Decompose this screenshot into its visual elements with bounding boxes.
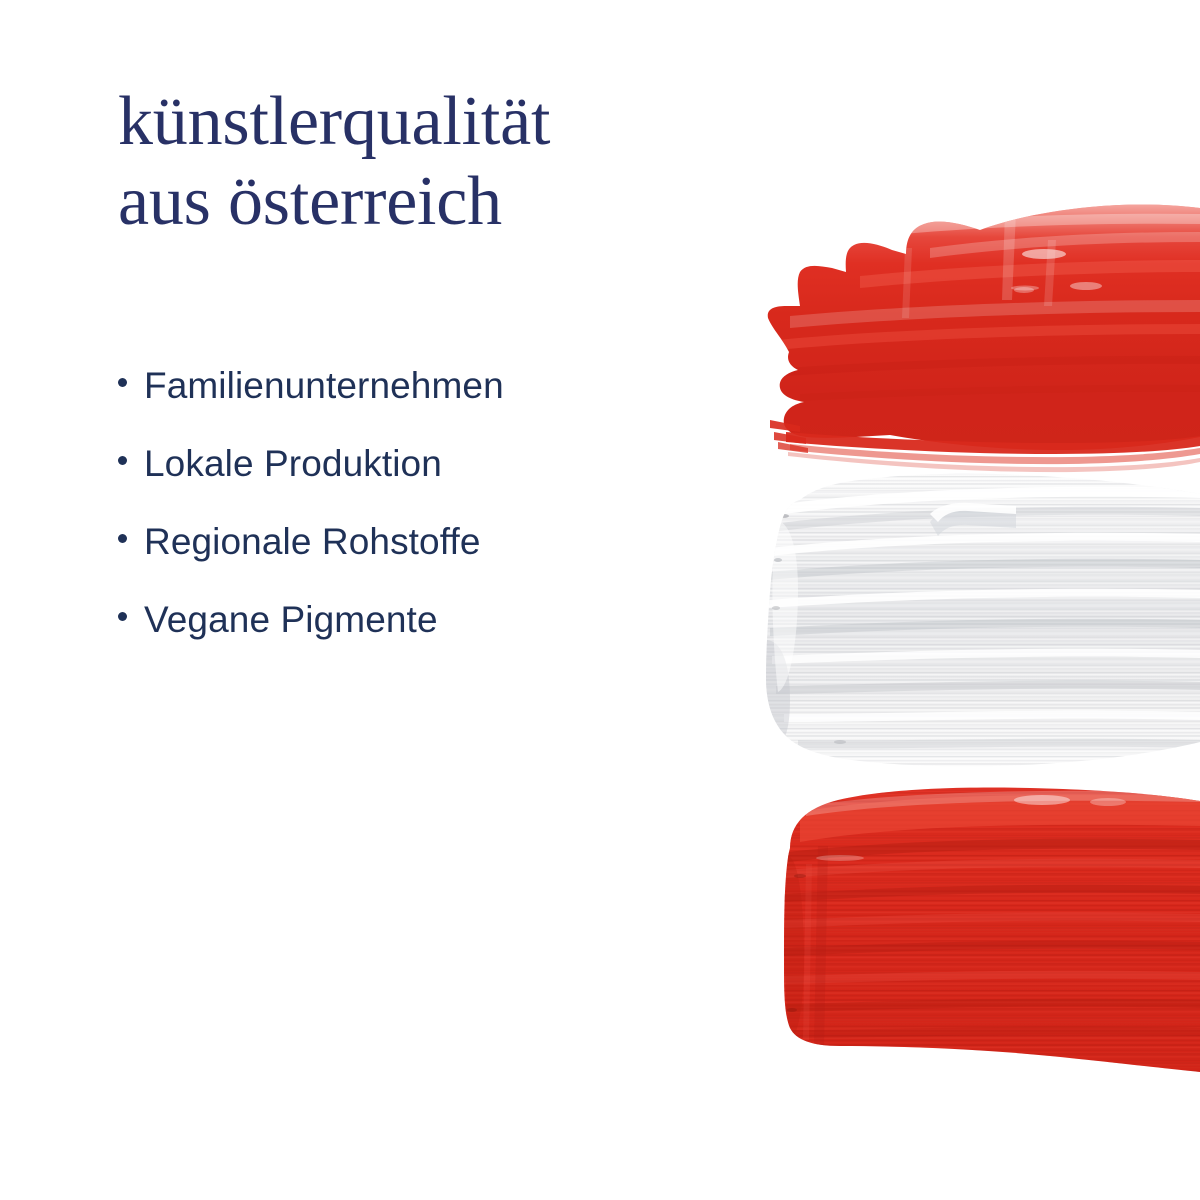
middle-white-stroke: [740, 460, 1200, 790]
list-item: Lokale Produktion: [118, 443, 758, 521]
bottom-red-stroke: [760, 780, 1200, 1080]
bullet-dot-icon: [118, 372, 144, 402]
feature-label: Vegane Pigmente: [144, 599, 438, 641]
bullet-dot-icon: [118, 606, 144, 636]
list-item: Vegane Pigmente: [118, 599, 758, 677]
headline-line-1: künstlerqualität: [118, 82, 738, 162]
headline-line-2: aus österreich: [118, 162, 738, 242]
bullet-dot-icon: [118, 528, 144, 558]
list-item: Regionale Rohstoffe: [118, 521, 758, 599]
feature-label: Familienunternehmen: [144, 365, 504, 407]
bullet-dot-icon: [118, 450, 144, 480]
headline-block: künstlerqualität aus österreich: [118, 82, 738, 242]
page-title: künstlerqualität aus österreich: [118, 82, 738, 242]
feature-label: Regionale Rohstoffe: [144, 521, 481, 563]
top-red-stroke: [760, 204, 1200, 472]
feature-list: Familienunternehmen Lokale Produktion Re…: [118, 365, 758, 677]
promo-graphic: künstlerqualität aus österreich Familien…: [0, 0, 1200, 1200]
feature-label: Lokale Produktion: [144, 443, 442, 485]
list-item: Familienunternehmen: [118, 365, 758, 443]
